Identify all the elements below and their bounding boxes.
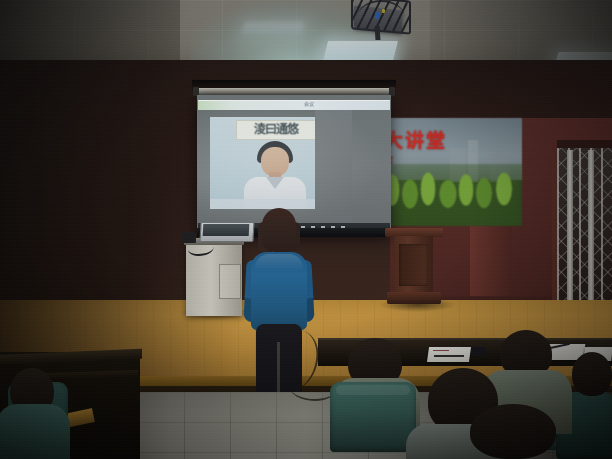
fluorescent-panel-left xyxy=(242,22,304,34)
podium-front-panel xyxy=(399,244,428,286)
projector-status-led-icon xyxy=(382,9,385,13)
cabinet-door-panel[interactable] xyxy=(219,264,241,299)
av-equipment-cabinet xyxy=(186,236,242,316)
window-grille-pattern xyxy=(557,148,612,300)
mobile-phone[interactable] xyxy=(472,347,486,356)
podium-base xyxy=(387,292,441,304)
chair-backrest-highlight xyxy=(336,385,410,395)
projector-drop-pole xyxy=(375,26,381,40)
ceiling-projector xyxy=(349,0,409,40)
attendee-torso xyxy=(0,404,70,459)
attendee-head-foreground xyxy=(470,404,556,459)
projector-power-led-icon xyxy=(375,12,379,19)
window-pipe xyxy=(567,150,573,300)
lecture-hall-photo: 大讲堂 厅 会议 淩曰通悠 xyxy=(0,0,612,459)
presenter-shirt-highlight xyxy=(255,254,303,270)
speaking-podium xyxy=(385,228,443,308)
attendee-head xyxy=(572,352,612,396)
document-heading-rule xyxy=(433,350,449,351)
window-pipe xyxy=(588,150,594,300)
presenter-hair xyxy=(262,208,296,252)
projection-screen-roller xyxy=(196,88,392,95)
desk-pen xyxy=(434,355,464,357)
